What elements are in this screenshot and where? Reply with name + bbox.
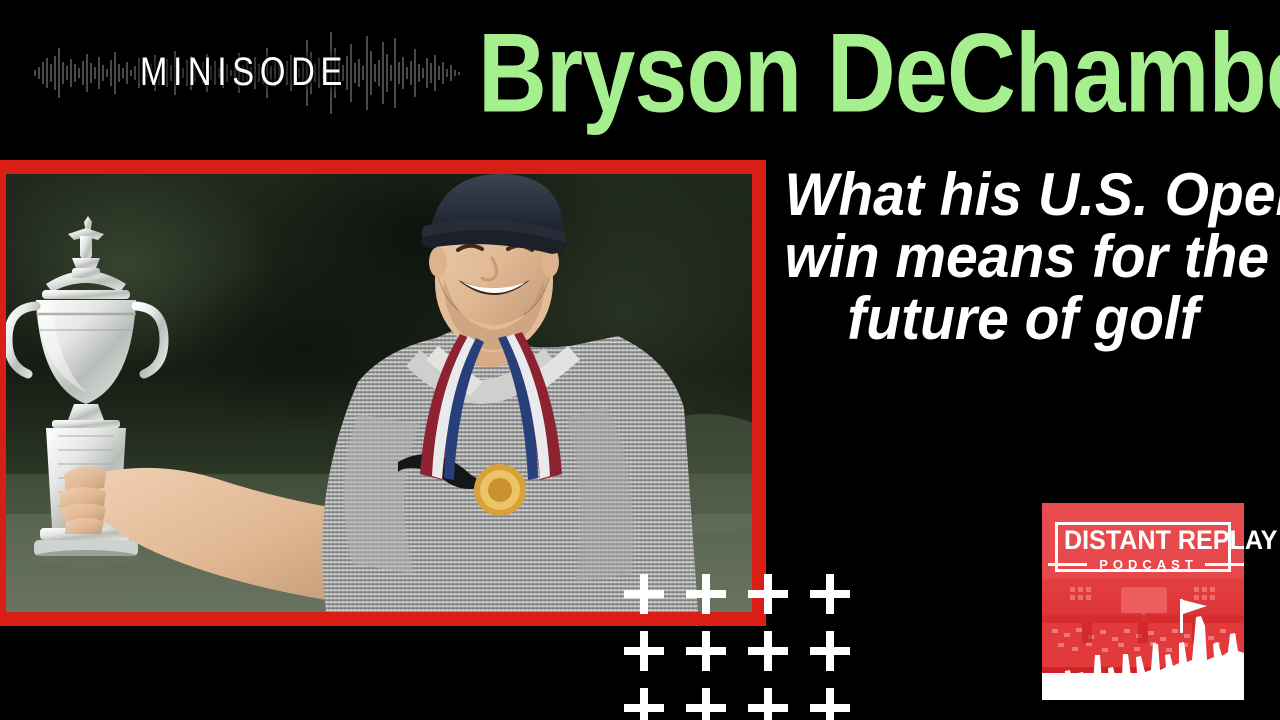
subtitle-line-1: What his U.S. Open (785, 164, 1262, 226)
plus-icon (810, 631, 850, 671)
plus-icon (686, 688, 726, 720)
logo-rule-left (1048, 563, 1087, 566)
plus-icon (748, 688, 788, 720)
plus-icon (624, 631, 664, 671)
podcast-logo-title: DISTANT REPLAY (1064, 527, 1222, 554)
subtitle-line-2: win means for the (785, 226, 1262, 288)
podcast-logo-subtitle: PODCAST (1087, 558, 1205, 571)
hero-photo (6, 174, 752, 612)
minisode-badge-label: MINISODE (140, 52, 348, 92)
plus-icon (624, 688, 664, 720)
podcast-logo-subtitle-row: PODCAST (1048, 556, 1244, 572)
plus-icon (748, 574, 788, 614)
logo-rule-right (1205, 563, 1244, 566)
plus-icon (624, 574, 664, 614)
plus-icon (686, 574, 726, 614)
subtitle-line-3: future of golf (785, 288, 1262, 350)
episode-subtitle: What his U.S. Open win means for the fut… (785, 164, 1262, 350)
youtube-thumbnail-canvas: MINISODE Bryson DeChambeau (0, 0, 1280, 720)
plus-icon (748, 631, 788, 671)
plus-icon (810, 574, 850, 614)
page-title: Bryson DeChambeau (478, 14, 1189, 133)
plus-icon (810, 688, 850, 720)
hero-photo-frame (0, 160, 766, 626)
podcast-logo-lockup: DISTANT REPLAY PODCAST (1055, 522, 1231, 572)
plus-icon (686, 631, 726, 671)
plus-pattern-decoration (624, 574, 874, 720)
